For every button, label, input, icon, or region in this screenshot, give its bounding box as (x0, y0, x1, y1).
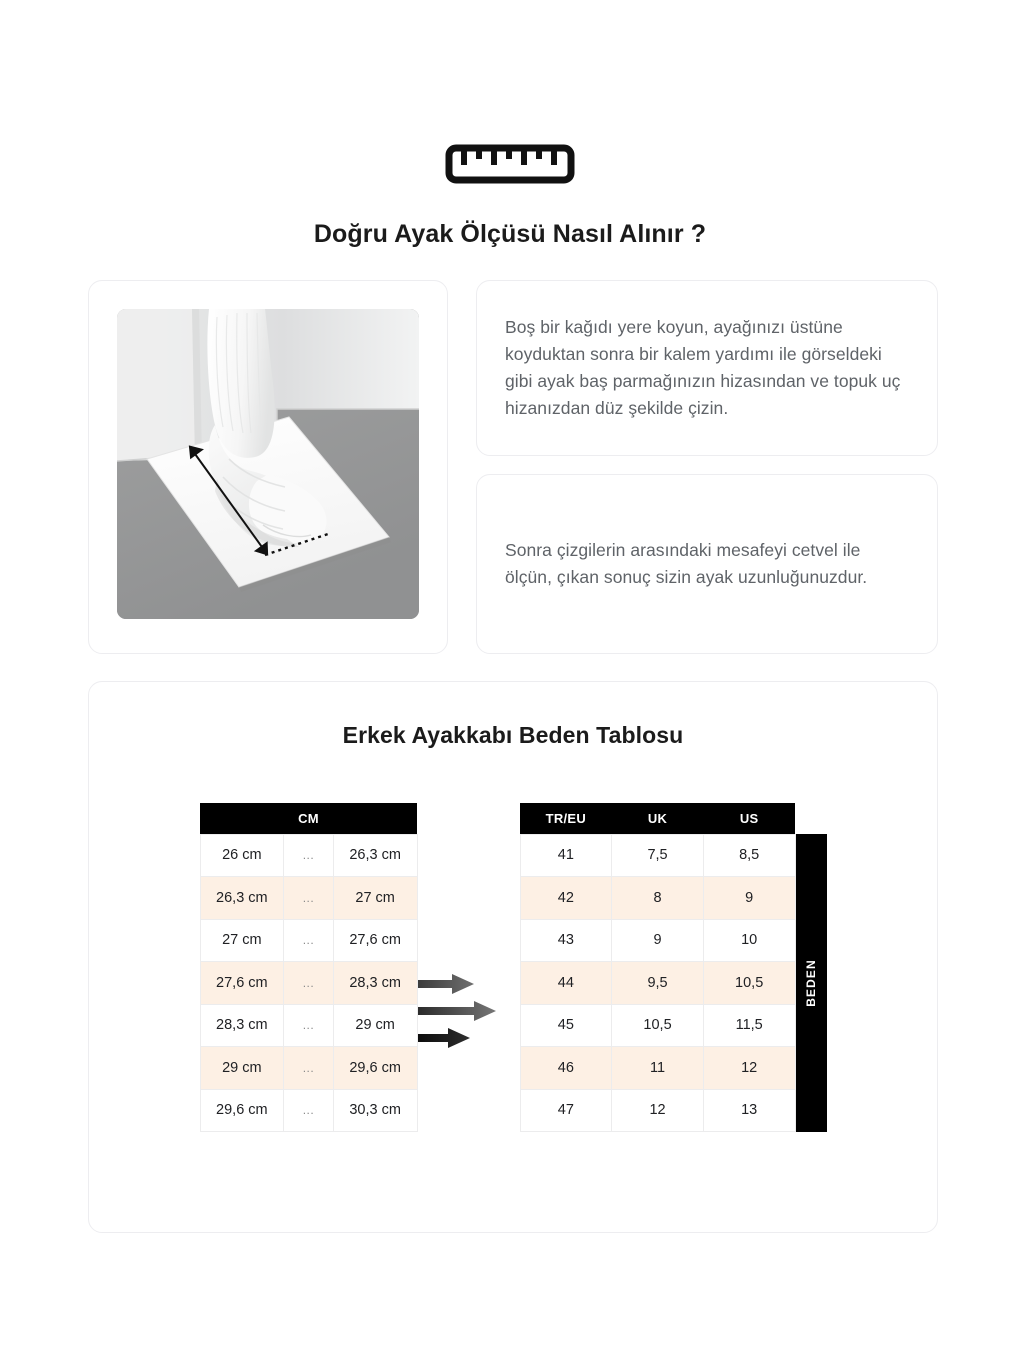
table-row: 42 8 9 (520, 877, 795, 920)
cm-from: 27,6 cm (200, 962, 284, 1005)
size-uk: 8 (612, 877, 704, 920)
size-us: 12 (703, 1047, 795, 1090)
instruction-card-2: Sonra çizgilerin arasındaki mesafeyi cet… (476, 474, 938, 654)
table-row: 46 11 12 (520, 1047, 795, 1090)
size-us: 10,5 (703, 962, 795, 1005)
table-row: 43 9 10 (520, 919, 795, 962)
table-row: 47 12 13 (520, 1089, 795, 1132)
instruction-card-1: Boş bir kağıdı yere koyun, ayağınızı üst… (476, 280, 938, 456)
table-row: 29,6 cm ... 30,3 cm (200, 1089, 417, 1132)
cm-separator: ... (284, 877, 334, 920)
table-row: 45 10,5 11,5 (520, 1004, 795, 1047)
table-row: 28,3 cm ... 29 cm (200, 1004, 417, 1047)
size-uk: 11 (612, 1047, 704, 1090)
beden-label: BEDEN (804, 959, 818, 1007)
size-chart-title: Erkek Ayakkabı Beden Tablosu (89, 722, 937, 749)
cm-to: 27,6 cm (333, 919, 417, 962)
size-us: 8,5 (703, 834, 795, 877)
cm-table: CM 26 cm ... 26,3 cm 26,3 cm ... 27 cm (200, 803, 418, 1132)
cm-table-body: 26 cm ... 26,3 cm 26,3 cm ... 27 cm 27 c… (200, 834, 417, 1132)
beden-bar: BEDEN (796, 834, 827, 1132)
size-uk: 10,5 (612, 1004, 704, 1047)
cm-separator: ... (284, 962, 334, 1005)
size-tr-eu: 45 (520, 1004, 612, 1047)
cm-to: 26,3 cm (333, 834, 417, 877)
size-uk: 9 (612, 919, 704, 962)
size-header-us: US (703, 803, 795, 834)
size-tr-eu: 42 (520, 877, 612, 920)
table-row: 26,3 cm ... 27 cm (200, 877, 417, 920)
page-header: Doğru Ayak Ölçüsü Nasıl Alınır ? (0, 142, 1020, 249)
size-chart-card: Erkek Ayakkabı Beden Tablosu CM 26 cm ..… (88, 681, 938, 1233)
size-header-uk: UK (612, 803, 704, 834)
instruction-text-column: Boş bir kağıdı yere koyun, ayağınızı üst… (476, 280, 938, 655)
cm-separator: ... (284, 1047, 334, 1090)
beden-bar-holder: BEDEN (796, 803, 827, 1132)
cm-header-row: CM (200, 803, 417, 834)
arrow-right-icon (418, 1028, 470, 1048)
size-table-body: 41 7,5 8,5 42 8 9 43 9 10 (520, 834, 795, 1132)
size-us: 13 (703, 1089, 795, 1132)
size-tr-eu: 44 (520, 962, 612, 1005)
table-row: 44 9,5 10,5 (520, 962, 795, 1005)
cm-to: 27 cm (333, 877, 417, 920)
photo-card (88, 280, 448, 654)
arrow-right-icon (418, 974, 474, 994)
size-tr-eu: 47 (520, 1089, 612, 1132)
size-tr-eu: 46 (520, 1047, 612, 1090)
page-title: Doğru Ayak Ölçüsü Nasıl Alınır ? (0, 220, 1020, 249)
size-uk: 7,5 (612, 834, 704, 877)
cm-from: 29,6 cm (200, 1089, 284, 1132)
size-uk: 9,5 (612, 962, 704, 1005)
cm-to: 28,3 cm (333, 962, 417, 1005)
size-us: 9 (703, 877, 795, 920)
cm-from: 28,3 cm (200, 1004, 284, 1047)
cm-from: 29 cm (200, 1047, 284, 1090)
size-uk: 12 (612, 1089, 704, 1132)
conversion-arrows (418, 974, 520, 1048)
cm-separator: ... (284, 919, 334, 962)
size-tr-eu: 43 (520, 919, 612, 962)
instruction-text-1: Boş bir kağıdı yere koyun, ayağınızı üst… (505, 314, 907, 422)
size-table-head: TR/EU UK US (520, 803, 795, 834)
table-row: 27 cm ... 27,6 cm (200, 919, 417, 962)
table-row: 26 cm ... 26,3 cm (200, 834, 417, 877)
cm-table-head: CM (200, 803, 417, 834)
foot-measurement-photo (117, 309, 419, 619)
size-us: 10 (703, 919, 795, 962)
size-table-stack: TR/EU UK US 41 7,5 8,5 42 8 (520, 803, 827, 1132)
cm-header-cell: CM (200, 803, 417, 834)
cm-separator: ... (284, 1089, 334, 1132)
cm-to: 29 cm (333, 1004, 417, 1047)
instruction-text-2: Sonra çizgilerin arasındaki mesafeyi cet… (505, 537, 907, 591)
table-row: 41 7,5 8,5 (520, 834, 795, 877)
table-row: 27,6 cm ... 28,3 cm (200, 962, 417, 1005)
cm-to: 29,6 cm (333, 1047, 417, 1090)
ruler-icon (445, 142, 575, 186)
arrow-right-icon (418, 1001, 496, 1021)
size-header-row: TR/EU UK US (520, 803, 795, 834)
cm-separator: ... (284, 1004, 334, 1047)
size-header-tr-eu: TR/EU (520, 803, 612, 834)
cm-from: 27 cm (200, 919, 284, 962)
size-us: 11,5 (703, 1004, 795, 1047)
cm-from: 26,3 cm (200, 877, 284, 920)
size-guide-page: Doğru Ayak Ölçüsü Nasıl Alınır ? (0, 0, 1020, 1360)
size-table: TR/EU UK US 41 7,5 8,5 42 8 (520, 803, 796, 1132)
size-tables-wrapper: CM 26 cm ... 26,3 cm 26,3 cm ... 27 cm (89, 803, 937, 1132)
cm-from: 26 cm (200, 834, 284, 877)
cm-separator: ... (284, 834, 334, 877)
size-tr-eu: 41 (520, 834, 612, 877)
cm-to: 30,3 cm (333, 1089, 417, 1132)
instruction-section: Boş bir kağıdı yere koyun, ayağınızı üst… (88, 280, 938, 655)
table-row: 29 cm ... 29,6 cm (200, 1047, 417, 1090)
foot-measurement-illustration (117, 309, 419, 619)
